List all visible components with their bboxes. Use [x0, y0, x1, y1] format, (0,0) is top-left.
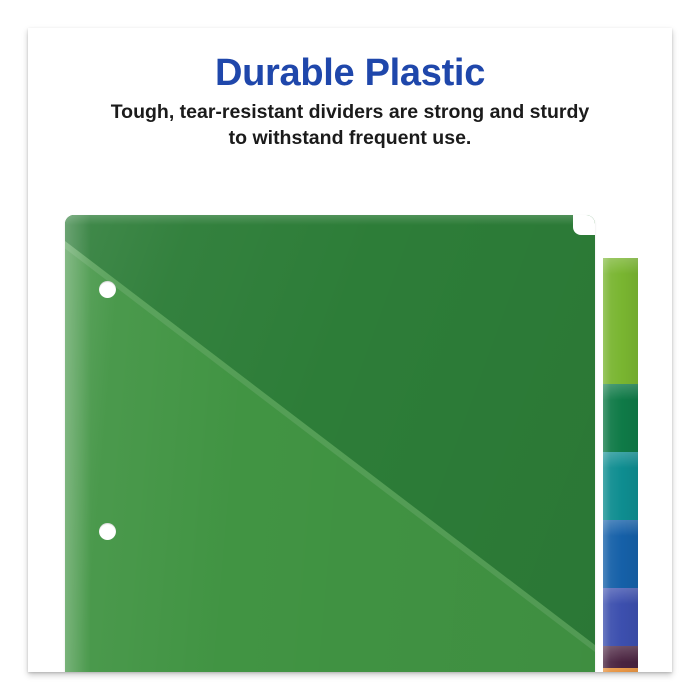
subtitle-line-2: to withstand frequent use.: [56, 126, 644, 152]
index-tab-1: [603, 258, 638, 384]
index-tab-5: [603, 588, 638, 646]
tab-sheen: [603, 384, 638, 400]
plastic-divider-body: [65, 215, 595, 672]
index-tab-column: [603, 220, 638, 672]
page-title: Durable Plastic: [28, 54, 672, 94]
tab-sheen: [603, 646, 638, 662]
tab-sheen: [603, 588, 638, 604]
subtitle-line-1: Tough, tear-resistant dividers are stron…: [111, 101, 590, 123]
page-subtitle: Tough, tear-resistant dividers are stron…: [56, 100, 644, 151]
binder-hole-bottom-icon: [99, 523, 116, 540]
product-image-card: Durable Plastic Tough, tear-resistant di…: [28, 28, 672, 672]
top-right-notch: [573, 215, 595, 235]
tab-sheen: [603, 668, 638, 672]
screenshot-canvas: Durable Plastic Tough, tear-resistant di…: [0, 0, 700, 700]
index-tab-3: [603, 452, 638, 520]
index-tab-6: [603, 646, 638, 668]
tab-sheen: [603, 520, 638, 536]
tab-sheen: [603, 258, 638, 274]
index-tab-2: [603, 384, 638, 452]
binder-hole-top-icon: [99, 281, 116, 298]
index-tab-7: [603, 668, 638, 672]
index-tab-4: [603, 520, 638, 588]
tab-sheen: [603, 452, 638, 468]
